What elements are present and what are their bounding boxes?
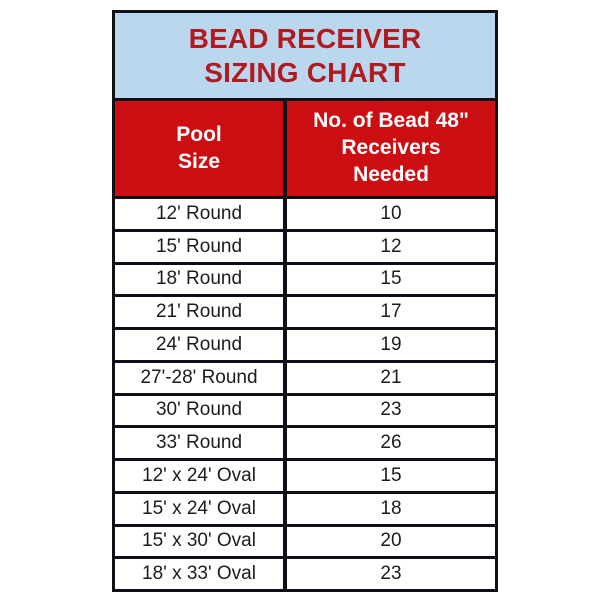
table-row: 21' Round 17 — [115, 297, 495, 330]
table-row: 15' x 24' Oval 18 — [115, 494, 495, 527]
cell-receivers-needed: 20 — [287, 527, 495, 557]
column-header-receivers-line-3: Needed — [313, 162, 469, 189]
column-header-receivers-needed: No. of Bead 48" Receivers Needed — [287, 101, 495, 196]
cell-receivers-needed: 10 — [287, 199, 495, 229]
chart-title-line-1: BEAD RECEIVER — [189, 22, 422, 55]
table-row: 12' x 24' Oval 15 — [115, 461, 495, 494]
cell-receivers-needed: 21 — [287, 363, 495, 393]
cell-pool-size: 15' x 24' Oval — [115, 494, 287, 524]
cell-pool-size: 30' Round — [115, 396, 287, 426]
cell-pool-size: 18' x 33' Oval — [115, 559, 287, 589]
column-header-pool-size: Pool Size — [115, 101, 287, 196]
cell-pool-size: 33' Round — [115, 428, 287, 458]
cell-pool-size: 18' Round — [115, 265, 287, 295]
table-row: 18' Round 15 — [115, 265, 495, 298]
table-row: 27'-28' Round 21 — [115, 363, 495, 396]
bead-receiver-sizing-chart: BEAD RECEIVER SIZING CHART Pool Size No.… — [112, 10, 498, 592]
cell-pool-size: 27'-28' Round — [115, 363, 287, 393]
column-header-pool-size-line-1: Pool — [176, 122, 222, 149]
cell-receivers-needed: 26 — [287, 428, 495, 458]
table-row: 24' Round 19 — [115, 330, 495, 363]
cell-receivers-needed: 19 — [287, 330, 495, 360]
cell-pool-size: 21' Round — [115, 297, 287, 327]
table-row: 18' x 33' Oval 23 — [115, 559, 495, 589]
cell-pool-size: 12' x 24' Oval — [115, 461, 287, 491]
cell-receivers-needed: 23 — [287, 559, 495, 589]
table-row: 30' Round 23 — [115, 396, 495, 429]
table-body: 12' Round 10 15' Round 12 18' Round 15 2… — [115, 199, 495, 589]
cell-pool-size: 12' Round — [115, 199, 287, 229]
column-header-receivers-line-1: No. of Bead 48" — [313, 108, 469, 135]
cell-pool-size: 15' Round — [115, 232, 287, 262]
table-row: 33' Round 26 — [115, 428, 495, 461]
cell-receivers-needed: 15 — [287, 265, 495, 295]
table-row: 15' Round 12 — [115, 232, 495, 265]
chart-title-band: BEAD RECEIVER SIZING CHART — [115, 13, 495, 101]
cell-receivers-needed: 15 — [287, 461, 495, 491]
cell-receivers-needed: 12 — [287, 232, 495, 262]
column-header-pool-size-line-2: Size — [176, 149, 222, 176]
cell-receivers-needed: 23 — [287, 396, 495, 426]
column-header-receivers-line-2: Receivers — [313, 135, 469, 162]
cell-receivers-needed: 17 — [287, 297, 495, 327]
chart-title-line-2: SIZING CHART — [204, 56, 406, 89]
cell-pool-size: 24' Round — [115, 330, 287, 360]
table-row: 15' x 30' Oval 20 — [115, 527, 495, 560]
cell-receivers-needed: 18 — [287, 494, 495, 524]
table-row: 12' Round 10 — [115, 199, 495, 232]
table-header-row: Pool Size No. of Bead 48" Receivers Need… — [115, 101, 495, 199]
cell-pool-size: 15' x 30' Oval — [115, 527, 287, 557]
